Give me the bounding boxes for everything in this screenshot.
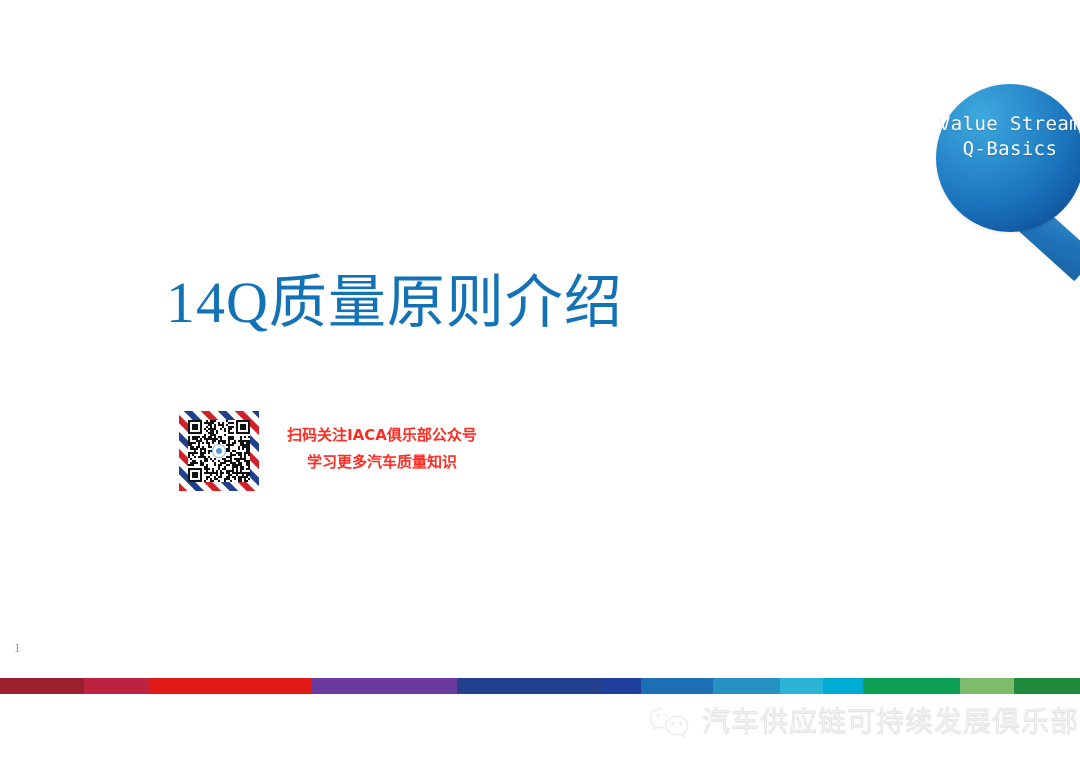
footer-brand-text: 汽车供应链可持续发展俱乐部 [702,705,1079,739]
color-bar-segment-dark-red [0,678,84,694]
color-bar-segment-deep-blue [602,678,641,694]
qr-caption: 扫码关注IACA俱乐部公众号 学习更多汽车质量知识 [277,422,487,476]
color-bar-segment-purple [312,678,457,694]
qr-promo-block: 扫码关注IACA俱乐部公众号 学习更多汽车质量知识 [179,411,479,491]
slide-canvas: Value Stream Q-Basics 14Q质量原则介绍 扫码关注IACA… [0,0,1080,764]
page-number: 1 [14,640,21,656]
qr-code-icon [188,420,250,482]
value-stream-logo: Value Stream Q-Basics [930,82,1080,242]
color-bar-segment-dark-green [1014,678,1080,694]
color-bar-segment-crimson [84,678,150,694]
magnifier-lens-icon [936,84,1080,232]
wechat-icon [648,705,692,739]
color-bar-segment-sky-blue [780,678,822,694]
color-bar [0,678,1080,694]
footer-brand: 汽车供应链可持续发展俱乐部 [648,700,1079,744]
color-bar-segment-light-green [960,678,1014,694]
color-bar-segment-ocean-blue [713,678,781,694]
color-bar-segment-bright-red [150,678,312,694]
color-bar-segment-indigo [457,678,602,694]
color-bar-segment-green [863,678,960,694]
qr-caption-line-2: 学习更多汽车质量知识 [277,449,487,476]
qr-code-frame [179,411,259,491]
qr-caption-line-1: 扫码关注IACA俱乐部公众号 [287,426,477,444]
qr-center-logo-icon [212,444,226,458]
color-bar-segment-steel-blue [641,678,713,694]
page-title: 14Q质量原则介绍 [166,268,623,338]
color-bar-segment-cyan [823,678,864,694]
